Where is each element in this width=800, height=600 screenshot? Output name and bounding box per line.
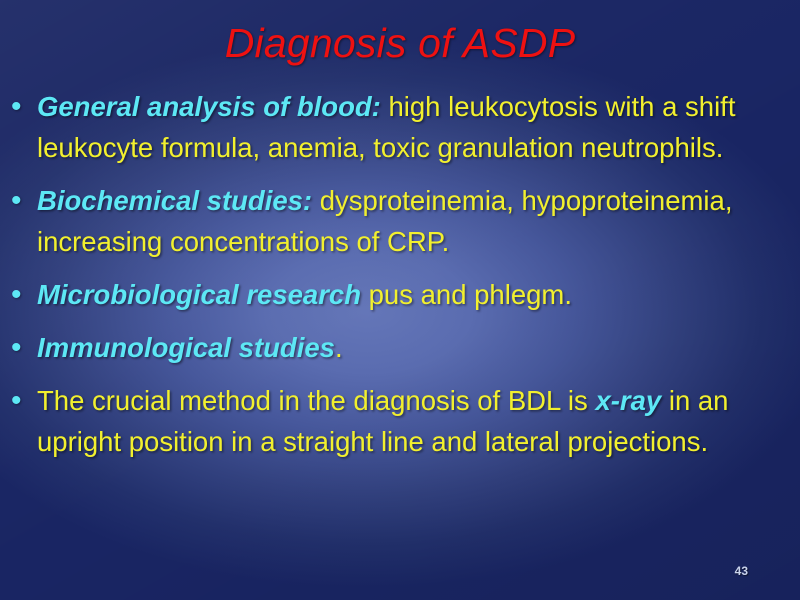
- list-item-lead: Immunological studies: [37, 332, 335, 363]
- list-item: • Biochemical studies: dysproteinemia, h…: [8, 180, 796, 262]
- slide-canvas: Diagnosis of ASDP • General analysis of …: [0, 0, 800, 600]
- list-item-text: Immunological studies.: [37, 327, 796, 368]
- list-item-highlight: x-ray: [595, 385, 661, 416]
- list-item: • The crucial method in the diagnosis of…: [8, 380, 796, 462]
- bullet-dot-icon: •: [8, 180, 37, 221]
- bullet-dot-icon: •: [8, 86, 37, 127]
- bullet-dot-icon: •: [8, 274, 37, 315]
- list-item-text: General analysis of blood: high leukocyt…: [37, 86, 796, 168]
- bullet-dot-icon: •: [8, 380, 37, 421]
- list-item-body: .: [335, 332, 343, 363]
- bullet-dot-icon: •: [8, 327, 37, 368]
- page-number: 43: [735, 564, 748, 578]
- list-item-body: pus and phlegm.: [361, 279, 572, 310]
- list-item-lead: Biochemical studies:: [37, 185, 312, 216]
- list-item-text: Biochemical studies: dysproteinemia, hyp…: [37, 180, 796, 262]
- list-item-text: Microbiological research pus and phlegm.: [37, 274, 796, 315]
- list-item-lead: General analysis of blood:: [37, 91, 381, 122]
- bullet-list: • General analysis of blood: high leukoc…: [8, 86, 796, 462]
- slide-title: Diagnosis of ASDP: [0, 20, 800, 67]
- list-item-body-pre: The crucial method in the diagnosis of B…: [37, 385, 595, 416]
- list-item: • Immunological studies.: [8, 327, 796, 368]
- list-item-lead: Microbiological research: [37, 279, 361, 310]
- list-item-text: The crucial method in the diagnosis of B…: [37, 380, 796, 462]
- list-item: • Microbiological research pus and phleg…: [8, 274, 796, 315]
- list-item: • General analysis of blood: high leukoc…: [8, 86, 796, 168]
